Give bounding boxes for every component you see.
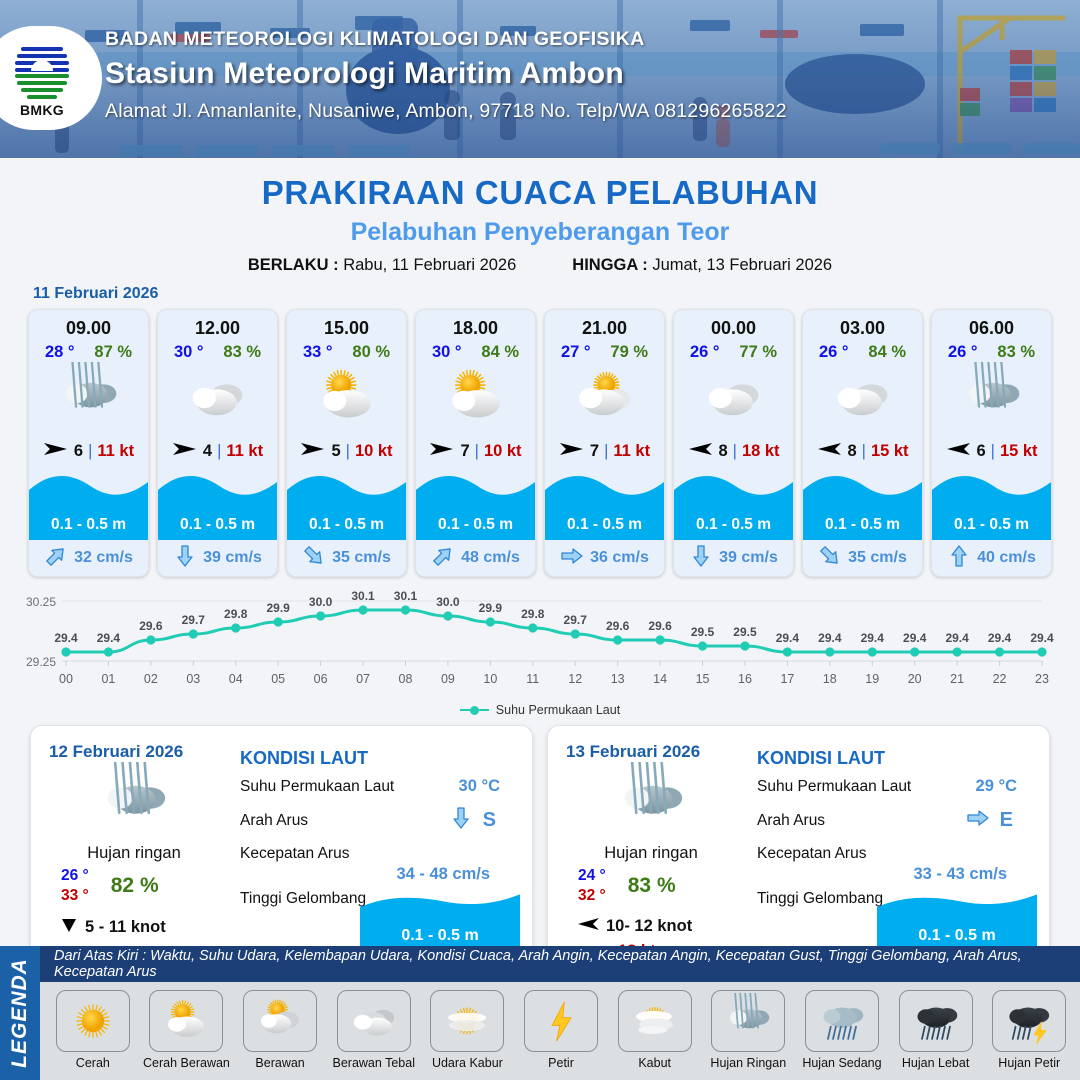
legend-side-label: LEGENDA	[0, 946, 40, 1080]
svg-text:29.4: 29.4	[945, 631, 969, 645]
card-wave-section: 0.1 - 0.5 m	[29, 470, 148, 540]
panel-wave-label: Tinggi Gelombang	[757, 890, 883, 907]
svg-text:29.9: 29.9	[266, 601, 290, 615]
agency-name: BADAN METEOROLOGI KLIMATOLOGI DAN GEOFIS…	[105, 28, 787, 51]
legend-item-label: Berawan	[255, 1056, 304, 1070]
panel-temp-humidity: 24 ° 32 ° 83 %	[566, 867, 741, 905]
svg-text:06: 06	[314, 672, 328, 686]
logo-label: BMKG	[7, 102, 77, 118]
legend-item: Udara Kabur	[423, 990, 513, 1070]
forecast-card: 15.00 33 ° 80 % 5 | 10 kt 0.1 - 0.5 m 35…	[286, 309, 407, 577]
validity-row: BERLAKU : Rabu, 11 Februari 2026 HINGGA …	[0, 256, 1080, 275]
card-wave-section: 0.1 - 0.5 m	[158, 470, 277, 540]
svg-text:18: 18	[823, 672, 837, 686]
card-wave-height: 0.1 - 0.5 m	[158, 510, 277, 540]
card-wind-separator: |	[991, 442, 995, 461]
panel-date: 12 Februari 2026	[49, 742, 236, 762]
card-time: 21.00	[545, 310, 664, 339]
card-current-speed: 39 cm/s	[203, 549, 262, 567]
hingga-label: HINGGA :	[572, 256, 647, 274]
card-wave-section: 0.1 - 0.5 m	[674, 470, 793, 540]
card-wave-height: 0.1 - 0.5 m	[29, 510, 148, 540]
berlaku-group: BERLAKU : Rabu, 11 Februari 2026	[248, 256, 516, 275]
svg-text:29.7: 29.7	[564, 613, 588, 627]
panel-sst-label: Suhu Permukaan Laut	[240, 778, 394, 796]
panel-temp-max: 32 °	[578, 887, 606, 905]
svg-text:04: 04	[229, 672, 243, 686]
legend-item-label: Petir	[548, 1056, 574, 1070]
svg-text:29.8: 29.8	[224, 607, 248, 621]
card-current-speed: 35 cm/s	[848, 549, 907, 567]
card-humidity: 80 %	[352, 343, 390, 362]
page-header: BMKG BADAN METEOROLOGI KLIMATOLOGI DAN G…	[0, 0, 1080, 158]
card-humidity: 84 %	[868, 343, 906, 362]
hingga-value: Jumat, 13 Februari 2026	[652, 256, 832, 274]
wind-direction-arrow-icon	[816, 440, 842, 463]
legend-strip: LEGENDA Dari Atas Kiri : Waktu, Suhu Uda…	[0, 946, 1080, 1080]
card-current-row: 35 cm/s	[803, 540, 922, 576]
wind-direction-arrow-icon	[43, 440, 69, 463]
svg-text:09: 09	[441, 672, 455, 686]
svg-text:21: 21	[950, 672, 964, 686]
panel-wind-row: 5 - 11 knot	[49, 915, 236, 940]
svg-text:29.5: 29.5	[691, 625, 715, 639]
svg-text:22: 22	[993, 672, 1007, 686]
card-temp-humidity: 26 ° 83 %	[932, 339, 1051, 362]
card-wind-separator: |	[862, 442, 866, 461]
svg-text:12: 12	[568, 672, 582, 686]
card-temp-humidity: 26 ° 77 %	[674, 339, 793, 362]
panel-weather-light-rain-icon	[566, 764, 736, 842]
card-time: 00.00	[674, 310, 793, 339]
station-name: Stasiun Meteorologi Maritim Ambon	[105, 57, 787, 91]
svg-text:29.9: 29.9	[479, 601, 503, 615]
legend-sun-cloud-icon	[149, 990, 223, 1052]
card-humidity: 84 %	[481, 343, 519, 362]
legend-note-bar: Dari Atas Kiri : Waktu, Suhu Udara, Kele…	[40, 946, 1080, 982]
svg-text:13: 13	[611, 672, 625, 686]
card-wind-separator: |	[217, 442, 221, 461]
panel-temp-min: 26 °	[61, 867, 89, 885]
bmkg-logo: BMKG	[0, 26, 102, 130]
panel-current-direction-arrow-icon	[966, 806, 990, 835]
station-address: Alamat Jl. Amanlanite, Nusaniwe, Ambon, …	[105, 100, 787, 123]
card-current-row: 39 cm/s	[674, 540, 793, 576]
card-temperature: 26 °	[690, 343, 720, 362]
svg-text:10: 10	[483, 672, 497, 686]
card-time: 15.00	[287, 310, 406, 339]
card-gust: 18 kt	[742, 442, 780, 461]
card-wind-separator: |	[346, 442, 350, 461]
legend-light-rain-icon	[711, 990, 785, 1052]
svg-text:08: 08	[399, 672, 413, 686]
chart-legend-marker-icon	[460, 706, 489, 715]
card-wind-separator: |	[733, 442, 737, 461]
svg-text:29.4: 29.4	[54, 631, 78, 645]
card-weather-light-rain-icon	[29, 362, 148, 434]
svg-text:11: 11	[526, 672, 539, 686]
card-current-speed: 35 cm/s	[332, 549, 391, 567]
card-wave-height: 0.1 - 0.5 m	[674, 510, 793, 540]
card-weather-mostly-cloudy-icon	[545, 362, 664, 434]
sst-chart-svg: 30.2529.25000102030405060708091011121314…	[0, 589, 1080, 701]
panel-sst-row: Suhu Permukaan Laut 30 °C	[240, 777, 516, 796]
panel-humidity: 82 %	[111, 874, 159, 898]
sst-chart: 30.2529.25000102030405060708091011121314…	[0, 589, 1080, 701]
card-wave-section: 0.1 - 0.5 m	[932, 470, 1051, 540]
card-gust: 11 kt	[97, 442, 134, 461]
wind-direction-arrow-icon	[687, 440, 713, 463]
card-wind-speed: 4	[203, 442, 212, 461]
panel-humidity: 83 %	[628, 874, 676, 898]
card-current-speed: 39 cm/s	[719, 549, 778, 567]
card-wave-height: 0.1 - 0.5 m	[545, 510, 664, 540]
card-temperature: 27 °	[561, 343, 591, 362]
legend-item-label: Hujan Lebat	[902, 1056, 969, 1070]
forecast-card: 06.00 26 ° 83 % 6 | 15 kt 0.1 - 0.5 m 40…	[931, 309, 1052, 577]
legend-thunder-rain-icon	[992, 990, 1066, 1052]
svg-text:16: 16	[738, 672, 752, 686]
card-gust: 15 kt	[871, 442, 909, 461]
panel-wind-speed: 5 - 11 knot	[85, 918, 166, 937]
svg-text:29.6: 29.6	[139, 619, 163, 633]
forecast-card: 21.00 27 ° 79 % 7 | 11 kt 0.1 - 0.5 m 36…	[544, 309, 665, 577]
card-humidity: 83 %	[223, 343, 261, 362]
legend-item: Hujan Ringan	[703, 990, 793, 1070]
legend-item: Hujan Lebat	[891, 990, 981, 1070]
current-direction-arrow-icon	[173, 544, 197, 573]
card-humidity: 79 %	[610, 343, 648, 362]
svg-text:19: 19	[865, 672, 879, 686]
card-wind-row: 6 | 15 kt	[932, 434, 1051, 468]
legend-item: Cerah Berawan	[142, 990, 232, 1070]
forecast-card: 18.00 30 ° 84 % 7 | 10 kt 0.1 - 0.5 m 48…	[415, 309, 536, 577]
card-temperature: 30 °	[432, 343, 462, 362]
card-wave-section: 0.1 - 0.5 m	[416, 470, 535, 540]
bmkg-emblem-icon	[7, 40, 77, 102]
svg-text:29.4: 29.4	[776, 631, 800, 645]
card-weather-cloudy-icon	[803, 362, 922, 434]
svg-text:30.25: 30.25	[26, 595, 56, 609]
svg-text:30.0: 30.0	[436, 595, 460, 609]
card-gust: 11 kt	[613, 442, 650, 461]
card-humidity: 87 %	[94, 343, 132, 362]
card-wind-row: 8 | 15 kt	[803, 434, 922, 468]
card-current-row: 39 cm/s	[158, 540, 277, 576]
card-current-speed: 40 cm/s	[977, 549, 1036, 567]
card-wind-speed: 5	[331, 442, 340, 461]
svg-text:29.4: 29.4	[988, 631, 1012, 645]
svg-text:00: 00	[59, 672, 73, 686]
legend-fog-icon	[618, 990, 692, 1052]
forecast-card: 03.00 26 ° 84 % 8 | 15 kt 0.1 - 0.5 m 35…	[802, 309, 923, 577]
panel-temp-column: 26 ° 33 °	[61, 867, 89, 905]
panel-left: 12 Februari 2026 Hujan ringan 26 ° 33 ° …	[31, 726, 236, 969]
svg-text:29.4: 29.4	[861, 631, 885, 645]
panel-current-dir-row: Arah Arus E	[757, 806, 1033, 835]
legend-lightning-icon	[524, 990, 598, 1052]
panel-temp-max: 33 °	[61, 887, 89, 905]
page-title: PRAKIRAAN CUACA PELABUHAN	[0, 174, 1080, 212]
svg-text:29.25: 29.25	[26, 655, 56, 669]
card-time: 09.00	[29, 310, 148, 339]
panel-sst-value: 30 °C	[459, 777, 500, 796]
legend-item-label: Hujan Petir	[998, 1056, 1060, 1070]
legend-item-label: Cerah Berawan	[143, 1056, 230, 1070]
svg-text:07: 07	[356, 672, 370, 686]
svg-text:29.4: 29.4	[1030, 631, 1054, 645]
svg-text:29.7: 29.7	[182, 613, 206, 627]
wind-direction-arrow-icon	[429, 440, 455, 463]
legend-sun-icon	[56, 990, 130, 1052]
current-direction-arrow-icon	[818, 544, 842, 573]
panel-current-speed-row: Kecepatan Arus 34 - 48 cm/s	[240, 845, 516, 884]
chart-legend: Suhu Permukaan Laut	[0, 703, 1080, 717]
panel-wind-direction-arrow-icon	[59, 915, 79, 940]
legend-item: Berawan	[235, 990, 325, 1070]
card-temp-humidity: 27 ° 79 %	[545, 339, 664, 362]
card-temperature: 30 °	[174, 343, 204, 362]
panel-weather-light-rain-icon	[49, 764, 219, 842]
card-wind-speed: 7	[590, 442, 599, 461]
card-humidity: 77 %	[739, 343, 777, 362]
card-temperature: 28 °	[45, 343, 75, 362]
card-wind-separator: |	[475, 442, 479, 461]
legend-item: Hujan Sedang	[797, 990, 887, 1070]
legend-haze-icon	[430, 990, 504, 1052]
panel-left: 13 Februari 2026 Hujan ringan 24 ° 32 ° …	[548, 726, 753, 969]
current-direction-arrow-icon	[689, 544, 713, 573]
legend-clouds-icon	[337, 990, 411, 1052]
card-weather-light-rain-icon	[932, 362, 1051, 434]
card-wind-speed: 8	[847, 442, 856, 461]
legend-heavy-rain-icon	[899, 990, 973, 1052]
panel-current-dir-value: S	[483, 809, 496, 832]
svg-text:15: 15	[696, 672, 710, 686]
panel-sea-title: KONDISI LAUT	[757, 748, 1033, 769]
daily-panel: 12 Februari 2026 Hujan ringan 26 ° 33 ° …	[30, 725, 533, 970]
panel-condition: Hujan ringan	[49, 844, 219, 863]
card-gust: 15 kt	[1000, 442, 1038, 461]
card-temperature: 26 °	[948, 343, 978, 362]
card-current-row: 32 cm/s	[29, 540, 148, 576]
legend-items: Cerah Cerah Berawan Berawan Berawan Teba…	[40, 982, 1080, 1080]
hourly-date-label: 11 Februari 2026	[33, 285, 1080, 303]
card-gust: 10 kt	[355, 442, 393, 461]
svg-text:30.0: 30.0	[309, 595, 333, 609]
panel-temp-column: 24 ° 32 °	[578, 867, 606, 905]
legend-item-label: Hujan Sedang	[802, 1056, 881, 1070]
card-gust: 11 kt	[226, 442, 263, 461]
title-block: PRAKIRAAN CUACA PELABUHAN Pelabuhan Peny…	[0, 174, 1080, 275]
svg-text:29.6: 29.6	[606, 619, 630, 633]
page-subtitle: Pelabuhan Penyeberangan Teor	[0, 218, 1080, 247]
panel-current-speed-label: Kecepatan Arus	[240, 845, 516, 863]
panel-current-dir-value: E	[1000, 809, 1013, 832]
panel-sst-value: 29 °C	[976, 777, 1017, 796]
panel-current-dir-label: Arah Arus	[757, 812, 825, 830]
legend-item-label: Hujan Ringan	[710, 1056, 786, 1070]
current-direction-arrow-icon	[44, 544, 68, 573]
wind-direction-arrow-icon	[559, 440, 585, 463]
card-wave-section: 0.1 - 0.5 m	[803, 470, 922, 540]
card-wave-section: 0.1 - 0.5 m	[545, 470, 664, 540]
legend-item-label: Berawan Tebal	[333, 1056, 415, 1070]
panel-wind-speed: 10- 12 knot	[606, 917, 692, 936]
svg-text:30.1: 30.1	[394, 589, 418, 603]
card-wind-speed: 7	[460, 442, 469, 461]
panel-current-speed-value: 33 - 43 cm/s	[757, 865, 1033, 884]
panel-wave-label: Tinggi Gelombang	[240, 890, 366, 907]
legend-item: Cerah	[48, 990, 138, 1070]
legend-item: Hujan Petir	[984, 990, 1074, 1070]
panel-current-speed-row: Kecepatan Arus 33 - 43 cm/s	[757, 845, 1033, 884]
card-current-speed: 36 cm/s	[590, 549, 649, 567]
svg-text:30.1: 30.1	[351, 589, 375, 603]
forecast-card: 12.00 30 ° 83 % 4 | 11 kt 0.1 - 0.5 m 39…	[157, 309, 278, 577]
svg-text:20: 20	[908, 672, 922, 686]
legend-side-text: LEGENDA	[8, 958, 32, 1068]
card-temp-humidity: 28 ° 87 %	[29, 339, 148, 362]
card-time: 03.00	[803, 310, 922, 339]
card-temp-humidity: 30 ° 83 %	[158, 339, 277, 362]
svg-text:29.4: 29.4	[97, 631, 121, 645]
card-wind-row: 5 | 10 kt	[287, 434, 406, 468]
panel-current-direction-arrow-icon	[449, 806, 473, 835]
legend-item: Petir	[516, 990, 606, 1070]
card-wave-section: 0.1 - 0.5 m	[287, 470, 406, 540]
panel-sea-title: KONDISI LAUT	[240, 748, 516, 769]
card-temp-humidity: 26 ° 84 %	[803, 339, 922, 362]
card-wind-row: 7 | 10 kt	[416, 434, 535, 468]
daily-panel: 13 Februari 2026 Hujan ringan 24 ° 32 ° …	[547, 725, 1050, 970]
hourly-forecast-cards: 09.00 28 ° 87 % 6 | 11 kt 0.1 - 0.5 m 32…	[0, 309, 1080, 577]
card-weather-cloudy-icon	[158, 362, 277, 434]
svg-text:05: 05	[271, 672, 285, 686]
panel-condition: Hujan ringan	[566, 844, 736, 863]
card-current-row: 48 cm/s	[416, 540, 535, 576]
card-wind-row: 6 | 11 kt	[29, 434, 148, 468]
card-temp-humidity: 30 ° 84 %	[416, 339, 535, 362]
card-wave-height: 0.1 - 0.5 m	[932, 510, 1051, 540]
legend-note-text: Dari Atas Kiri : Waktu, Suhu Udara, Kele…	[54, 948, 1080, 980]
card-time: 06.00	[932, 310, 1051, 339]
svg-text:01: 01	[101, 672, 115, 686]
card-current-speed: 32 cm/s	[74, 549, 133, 567]
panel-temp-humidity: 26 ° 33 ° 82 %	[49, 867, 224, 905]
legend-item: Kabut	[610, 990, 700, 1070]
chart-legend-label: Suhu Permukaan Laut	[496, 703, 620, 717]
svg-text:29.6: 29.6	[648, 619, 672, 633]
svg-text:29.4: 29.4	[903, 631, 927, 645]
card-weather-partly-cloudy-icon	[287, 362, 406, 434]
legend-item: Berawan Tebal	[329, 990, 419, 1070]
legend-item-label: Udara Kabur	[432, 1056, 503, 1070]
card-temp-humidity: 33 ° 80 %	[287, 339, 406, 362]
legend-item-label: Kabut	[638, 1056, 671, 1070]
panel-temp-min: 24 °	[578, 867, 606, 885]
card-wind-speed: 8	[718, 442, 727, 461]
berlaku-value: Rabu, 11 Februari 2026	[343, 256, 516, 274]
card-wind-row: 4 | 11 kt	[158, 434, 277, 468]
card-humidity: 83 %	[997, 343, 1035, 362]
wind-direction-arrow-icon	[300, 440, 326, 463]
panel-right: KONDISI LAUT Suhu Permukaan Laut 29 °C A…	[753, 726, 1049, 969]
card-wind-separator: |	[88, 442, 92, 461]
panel-wind-row: 10- 12 knot	[566, 915, 753, 938]
current-direction-arrow-icon	[947, 544, 971, 573]
card-time: 12.00	[158, 310, 277, 339]
panel-sst-label: Suhu Permukaan Laut	[757, 778, 911, 796]
svg-text:29.8: 29.8	[521, 607, 545, 621]
header-text-block: BADAN METEOROLOGI KLIMATOLOGI DAN GEOFIS…	[105, 28, 787, 123]
card-wave-height: 0.1 - 0.5 m	[803, 510, 922, 540]
card-wind-speed: 6	[976, 442, 985, 461]
panel-current-dir-label: Arah Arus	[240, 812, 308, 830]
legend-cloud-sun-more-icon	[243, 990, 317, 1052]
legend-item-label: Cerah	[76, 1056, 110, 1070]
card-current-speed: 48 cm/s	[461, 549, 520, 567]
panel-current-speed-label: Kecepatan Arus	[757, 845, 1033, 863]
card-current-row: 40 cm/s	[932, 540, 1051, 576]
legend-moderate-rain-icon	[805, 990, 879, 1052]
current-direction-arrow-icon	[431, 544, 455, 573]
hingga-group: HINGGA : Jumat, 13 Februari 2026	[572, 256, 832, 275]
berlaku-label: BERLAKU :	[248, 256, 339, 274]
card-gust: 10 kt	[484, 442, 522, 461]
panel-current-speed-value: 34 - 48 cm/s	[240, 865, 516, 884]
card-weather-cloudy-icon	[674, 362, 793, 434]
card-weather-partly-cloudy-icon	[416, 362, 535, 434]
forecast-card: 09.00 28 ° 87 % 6 | 11 kt 0.1 - 0.5 m 32…	[28, 309, 149, 577]
card-current-row: 36 cm/s	[545, 540, 664, 576]
card-wave-height: 0.1 - 0.5 m	[416, 510, 535, 540]
panel-right: KONDISI LAUT Suhu Permukaan Laut 30 °C A…	[236, 726, 532, 969]
panel-sst-row: Suhu Permukaan Laut 29 °C	[757, 777, 1033, 796]
daily-forecast-panels: 12 Februari 2026 Hujan ringan 26 ° 33 ° …	[0, 725, 1080, 970]
card-current-row: 35 cm/s	[287, 540, 406, 576]
wind-direction-arrow-icon	[172, 440, 198, 463]
card-wind-row: 7 | 11 kt	[545, 434, 664, 468]
svg-text:29.4: 29.4	[818, 631, 842, 645]
svg-text:29.5: 29.5	[733, 625, 757, 639]
panel-current-dir-row: Arah Arus S	[240, 806, 516, 835]
current-direction-arrow-icon	[560, 544, 584, 573]
card-temperature: 33 °	[303, 343, 333, 362]
card-temperature: 26 °	[819, 343, 849, 362]
panel-wind-direction-arrow-icon	[576, 915, 600, 938]
svg-text:17: 17	[780, 672, 794, 686]
card-wave-height: 0.1 - 0.5 m	[287, 510, 406, 540]
card-wind-separator: |	[604, 442, 608, 461]
card-wind-speed: 6	[74, 442, 83, 461]
panel-date: 13 Februari 2026	[566, 742, 753, 762]
card-time: 18.00	[416, 310, 535, 339]
svg-text:03: 03	[186, 672, 200, 686]
forecast-card: 00.00 26 ° 77 % 8 | 18 kt 0.1 - 0.5 m 39…	[673, 309, 794, 577]
current-direction-arrow-icon	[302, 544, 326, 573]
svg-text:23: 23	[1035, 672, 1049, 686]
card-wind-row: 8 | 18 kt	[674, 434, 793, 468]
svg-text:14: 14	[653, 672, 667, 686]
wind-direction-arrow-icon	[945, 440, 971, 463]
svg-text:02: 02	[144, 672, 158, 686]
